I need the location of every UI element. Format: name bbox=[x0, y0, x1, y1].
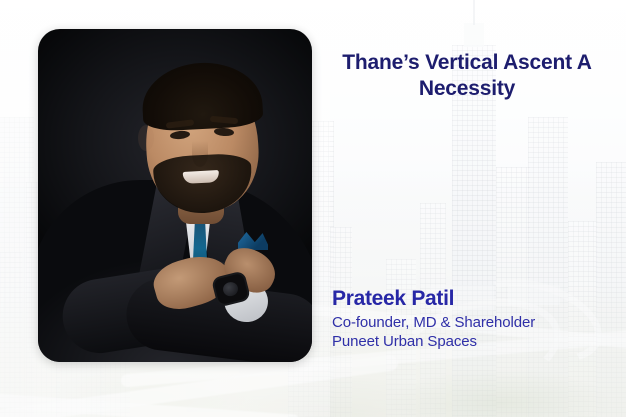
speaker-company: Puneet Urban Spaces bbox=[332, 332, 612, 351]
headline: Thane’s Vertical Ascent A Necessity bbox=[322, 50, 612, 102]
hair bbox=[140, 60, 263, 132]
speaker-portrait bbox=[38, 29, 312, 362]
speaker-byline: Prateek Patil Co-founder, MD & Sharehold… bbox=[332, 286, 612, 351]
speaker-quote-card: Thane’s Vertical Ascent A Necessity Prat… bbox=[0, 0, 626, 417]
ear bbox=[138, 125, 154, 151]
speaker-role: Co-founder, MD & Shareholder bbox=[332, 313, 612, 332]
speaker-name: Prateek Patil bbox=[332, 286, 612, 311]
